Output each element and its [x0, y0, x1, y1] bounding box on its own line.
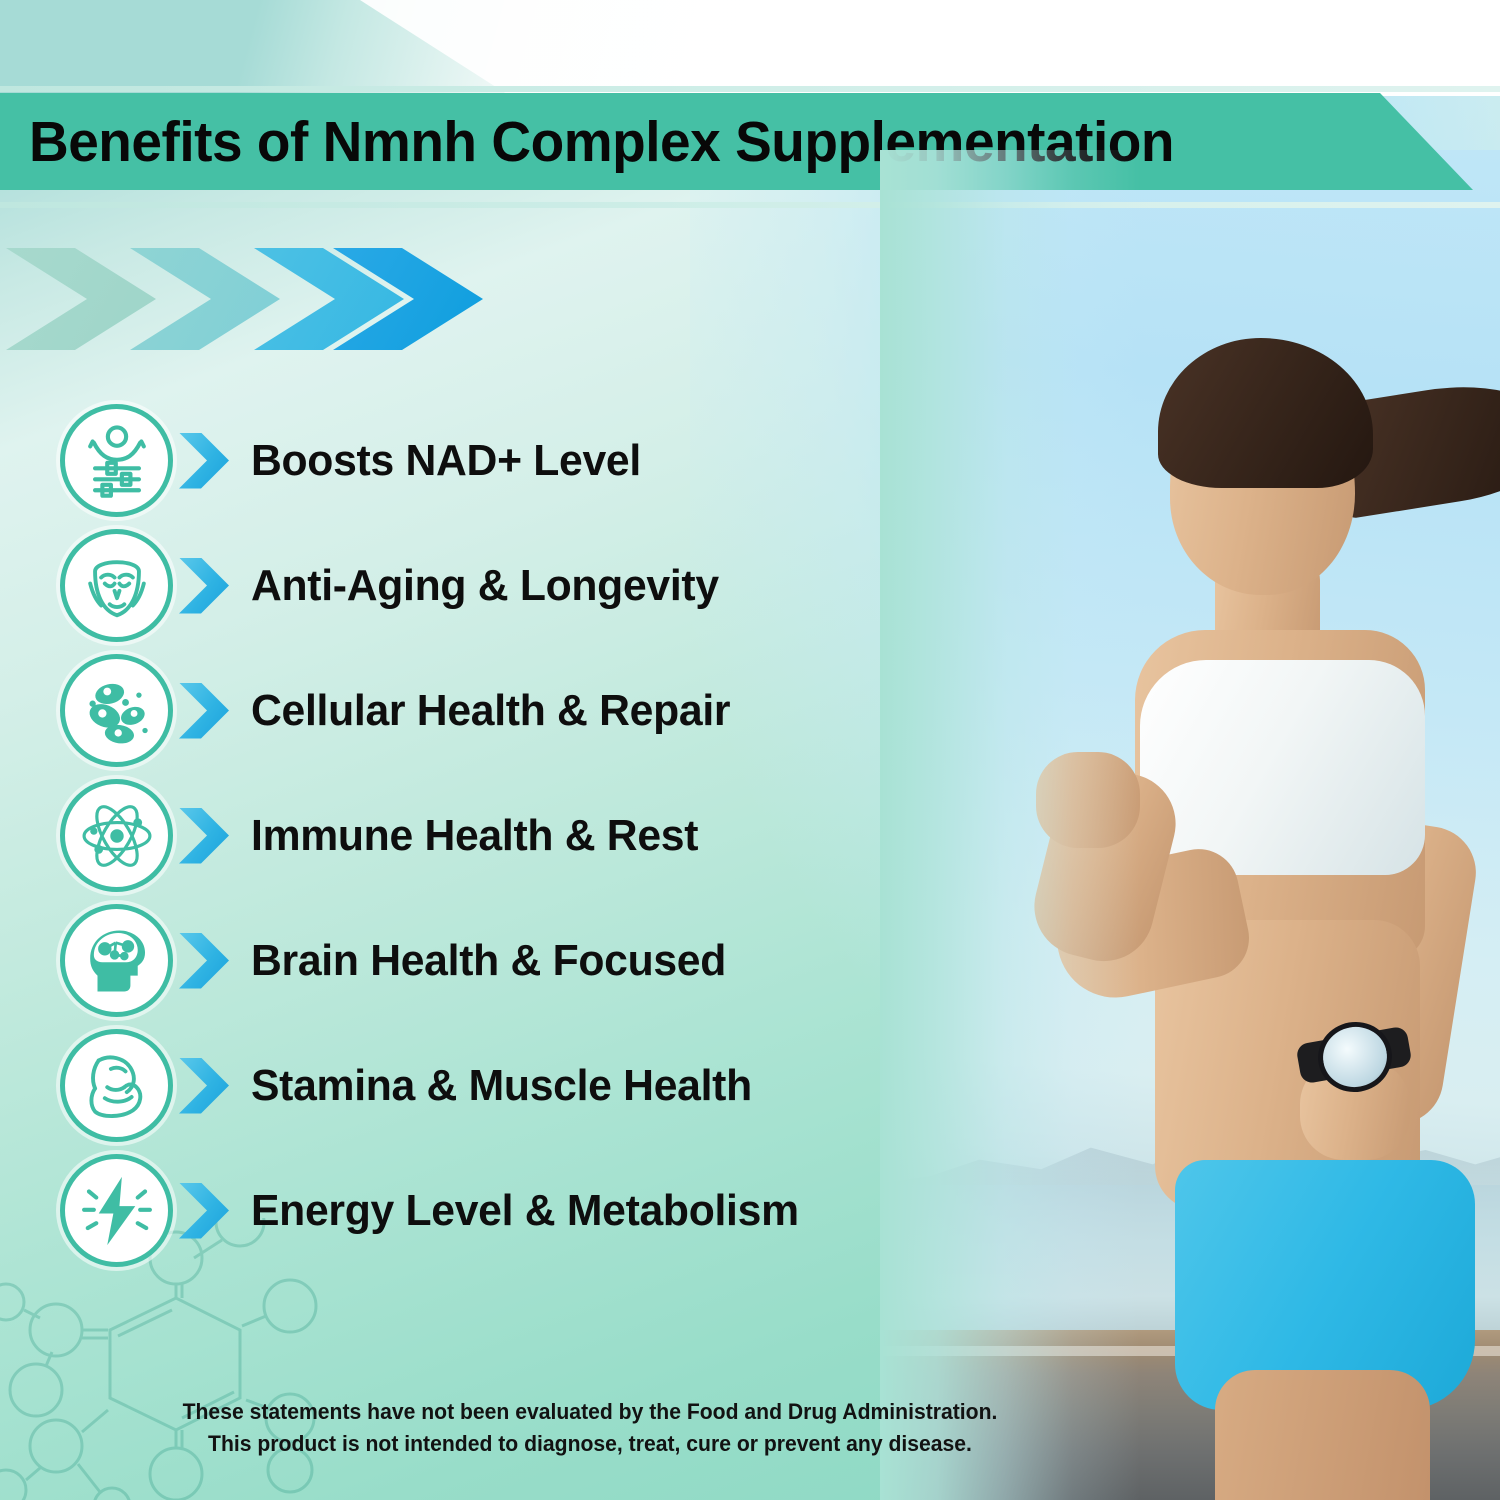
benefit-row-energy-level-metabolism[interactable]: Energy Level & Metabolism: [60, 1148, 890, 1273]
row-chevron-icon: [179, 558, 229, 614]
chevron-1-icon: [6, 248, 156, 350]
benefit-label: Cellular Health & Repair: [251, 686, 730, 736]
benefit-row-cellular-health-repair[interactable]: Cellular Health & Repair: [60, 648, 890, 773]
banner-rule-top: [0, 86, 1500, 92]
background-top-band: [0, 0, 1500, 96]
benefit-label: Anti-Aging & Longevity: [251, 561, 719, 611]
benefit-row-anti-aging-longevity[interactable]: Anti-Aging & Longevity: [60, 523, 890, 648]
row-chevron-icon: [179, 1183, 229, 1239]
benefits-list: Boosts NAD+ Level Anti-Aging & Longevity: [60, 398, 890, 1273]
benefit-label: Immune Health & Rest: [251, 811, 698, 861]
row-chevron-icon: [179, 1058, 229, 1114]
runner-hair: [1158, 338, 1373, 488]
brain-head-icon: [60, 904, 173, 1017]
photo-left-fade: [880, 150, 1140, 1500]
row-chevron-icon: [179, 808, 229, 864]
atom-icon: [60, 779, 173, 892]
row-chevron-icon: [179, 683, 229, 739]
face-glow-icon: [60, 529, 173, 642]
disclaimer-line-1: These statements have not been evaluated…: [35, 1396, 1144, 1428]
fda-disclaimer: These statements have not been evaluated…: [35, 1396, 1144, 1460]
lightning-bolt-icon: [60, 1154, 173, 1267]
title-banner: Benefits of Nmnh Complex Supplementation: [0, 86, 1500, 202]
benefit-row-boosts-nad-level[interactable]: Boosts NAD+ Level: [60, 398, 890, 523]
flexed-bicep-icon: [60, 1029, 173, 1142]
row-chevron-icon: [179, 433, 229, 489]
banner-rule-bottom: [0, 202, 1500, 208]
infographic-canvas: Benefits of Nmnh Complex Supplementation: [0, 0, 1500, 1500]
chevron-decoration: [0, 248, 520, 350]
benefit-label: Boosts NAD+ Level: [251, 436, 641, 486]
benefit-label: Brain Health & Focused: [251, 936, 726, 986]
benefit-row-stamina-muscle-health[interactable]: Stamina & Muscle Health: [60, 1023, 890, 1148]
disclaimer-line-2: This product is not intended to diagnose…: [35, 1428, 1144, 1460]
runner-sports-bra: [1140, 660, 1425, 875]
cells-icon: [60, 654, 173, 767]
benefit-label: Energy Level & Metabolism: [251, 1186, 799, 1236]
benefit-label: Stamina & Muscle Health: [251, 1061, 752, 1111]
person-levels-icon: [60, 404, 173, 517]
row-chevron-icon: [179, 933, 229, 989]
runner-leg: [1215, 1370, 1430, 1500]
runner-photo: [880, 150, 1500, 1500]
benefit-row-immune-health-rest[interactable]: Immune Health & Rest: [60, 773, 890, 898]
banner-shape: Benefits of Nmnh Complex Supplementation: [0, 93, 1473, 190]
benefit-row-brain-health-focused[interactable]: Brain Health & Focused: [60, 898, 890, 1023]
